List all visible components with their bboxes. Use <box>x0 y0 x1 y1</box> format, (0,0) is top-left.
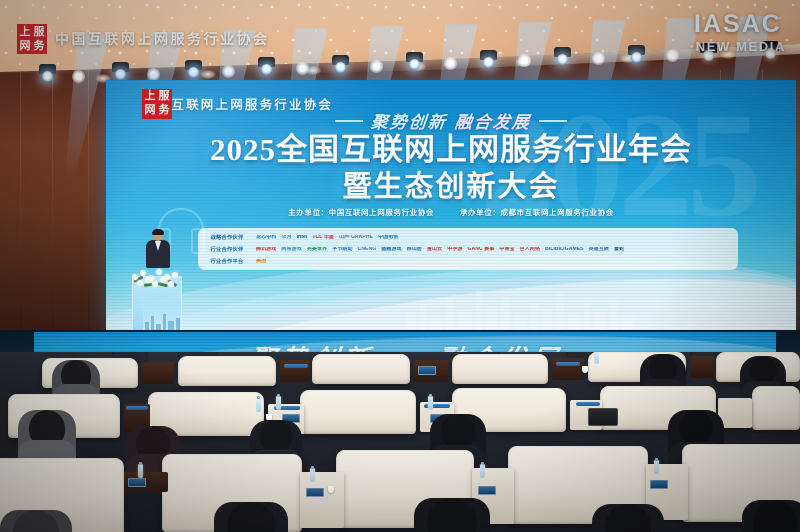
title-line-1: 2025全国互联网上网服务行业年会 <box>106 132 796 169</box>
name-card <box>650 480 668 489</box>
sponsor-logo: BILIBILIGAMES <box>545 247 584 252</box>
watermark-iasac-title: IASAC <box>690 12 786 37</box>
slogan-right-text: 融合发展 <box>454 108 533 133</box>
seat-accent-strip <box>576 402 600 406</box>
light-glow <box>444 57 457 70</box>
water-bottle <box>480 464 485 478</box>
sponsor-logo: 华为 <box>281 235 291 240</box>
led-stage-screen: 2025 <box>106 80 796 330</box>
light-glow <box>518 54 531 67</box>
sponsor-logo: 雷蛇 <box>614 247 624 252</box>
sponsor-logo: 金山云 <box>427 247 442 252</box>
sponsor-logo: 中国电信 <box>378 235 398 240</box>
water-bottle <box>594 352 599 364</box>
sponsor-logo-group: 龙芯中科 华为 intel TCL 华星 山声·GRAPHE 中国电信 <box>256 235 398 240</box>
audience-person <box>0 510 72 532</box>
tea-cup <box>582 366 588 373</box>
audience-person <box>742 500 800 532</box>
lectern-graphic <box>143 306 181 332</box>
slogan-left-text: 聚势创新 <box>370 108 449 133</box>
watermark-association: 上 服 网 务 中国互联网上网服务行业协会 <box>17 24 270 54</box>
watermark-iasac: IASAC ·NEW MEDIA <box>690 12 786 54</box>
audience-seat <box>752 386 800 430</box>
conference-photo: 2025 <box>0 0 800 532</box>
sponsor-logo: CNENG <box>358 247 377 252</box>
sponsor-logo: TCL 华星 <box>312 235 334 240</box>
light-glow <box>370 60 383 73</box>
water-bottle <box>256 398 261 412</box>
sponsor-logo: 中青宝 <box>499 247 514 252</box>
water-bottle <box>654 460 659 474</box>
water-bottle <box>276 396 281 410</box>
sponsor-logo: 中手游 <box>447 247 462 252</box>
sponsor-logo: 字节跳动 <box>332 247 352 252</box>
sponsor-row: 行业合作平台 美团 <box>204 256 730 266</box>
watermark-iasac-subtitle: ·NEW MEDIA <box>690 39 786 54</box>
sponsor-logo: 盛趣游戏 <box>381 247 401 252</box>
tea-cup <box>328 486 334 493</box>
sponsor-logo: 英雄互娱 <box>589 247 609 252</box>
water-bottle <box>310 468 315 482</box>
sponsor-logo: 山声·GRAPHE <box>339 235 373 240</box>
sponsor-logo: 西山居 <box>407 247 422 252</box>
co-organizer: 承办单位：成都市互联网上网服务行业协会 <box>460 207 614 218</box>
moving-head-light <box>332 55 349 74</box>
audience-person <box>414 498 490 532</box>
audience-person <box>592 504 664 532</box>
moving-head-light <box>185 60 202 79</box>
moving-head-light <box>554 47 571 66</box>
speaker-person <box>146 230 170 266</box>
sponsor-logo: GANC 赛事 <box>468 247 495 252</box>
sponsor-row-label: 行业合作伙伴 <box>204 246 250 253</box>
seat-accent-strip <box>556 362 580 366</box>
association-seal-icon: 上 服 网 务 <box>17 24 47 54</box>
seat-accent-strip <box>126 406 148 410</box>
title-line-2: 暨生态创新大会 <box>106 169 796 205</box>
laptop <box>588 408 618 426</box>
host-organizer: 主办单位：中国互联网上网服务行业协会 <box>288 207 434 218</box>
ceiling-downlight <box>200 70 216 79</box>
water-bottle <box>428 396 433 410</box>
moving-head-light <box>628 45 645 64</box>
audience-person <box>214 502 288 532</box>
audience-seat <box>312 354 410 384</box>
light-glow <box>666 49 679 62</box>
sponsor-logo-group: 腾讯游戏 网易游戏 完美世界 字节跳动 CNENG 盛趣游戏 西山居 金山云 中… <box>256 247 624 252</box>
moving-head-light <box>112 62 129 81</box>
sponsor-logo-group: 美团 <box>256 259 266 264</box>
audience-area <box>0 352 800 532</box>
sponsor-logo: 腾讯游戏 <box>256 247 276 252</box>
name-card <box>478 486 496 495</box>
sponsor-logo: 美团 <box>256 259 266 264</box>
side-table <box>300 472 344 528</box>
audience-seat <box>300 390 416 434</box>
sponsor-row-label: 行业合作平台 <box>204 258 250 265</box>
sponsor-row-label: 战略合作伙伴 <box>204 234 250 241</box>
wall-seam <box>88 70 89 350</box>
sponsor-logo: 完美世界 <box>307 247 327 252</box>
sponsor-logo: 网易游戏 <box>281 247 301 252</box>
watermark-association-text: 中国互联网上网服务行业协会 <box>55 29 270 49</box>
event-title: 2025全国互联网上网服务行业年会 暨生态创新大会 <box>106 132 796 205</box>
event-slogan: 聚势创新 融合发展 <box>106 108 796 133</box>
audience-seat <box>452 354 548 384</box>
seat-accent-strip <box>284 364 308 368</box>
seal-char: 网 <box>19 40 32 53</box>
seal-char: 服 <box>158 90 171 103</box>
light-glow <box>592 52 605 65</box>
wall-seam <box>52 70 53 350</box>
moving-head-light <box>39 64 56 83</box>
light-glow <box>296 62 309 75</box>
audience-seat <box>178 356 276 386</box>
moving-head-light <box>480 50 497 69</box>
sponsor-logo: intel <box>297 235 308 240</box>
sponsor-row: 战略合作伙伴 龙芯中科 华为 intel TCL 华星 山声·GRAPHE 中国… <box>204 232 730 242</box>
light-glow <box>222 65 235 78</box>
sponsor-panel: 战略合作伙伴 龙芯中科 华为 intel TCL 华星 山声·GRAPHE 中国… <box>198 228 738 270</box>
organizer-line: 主办单位：中国互联网上网服务行业协会 承办单位：成都市互联网上网服务行业协会 <box>106 207 796 218</box>
sponsor-logo: 龙芯中科 <box>256 235 276 240</box>
seal-char: 服 <box>33 26 46 39</box>
water-bottle <box>138 464 143 478</box>
sponsor-row: 行业合作伙伴 腾讯游戏 网易游戏 完美世界 字节跳动 CNENG 盛趣游戏 西山… <box>204 244 730 254</box>
lectern <box>128 258 186 336</box>
wall-seam <box>20 70 21 350</box>
side-table <box>690 356 714 378</box>
seal-char: 上 <box>19 26 32 39</box>
slogan-dash-right <box>539 120 567 122</box>
city-skyline-graphic <box>406 278 636 330</box>
flower-arrangement <box>124 264 190 294</box>
moving-head-light <box>258 57 275 76</box>
name-card <box>418 366 436 375</box>
seal-char: 务 <box>33 40 46 53</box>
moving-head-light <box>406 52 423 71</box>
slogan-dash-left <box>335 120 363 122</box>
side-table <box>142 362 174 384</box>
light-glow <box>72 70 85 83</box>
name-card <box>306 488 324 497</box>
name-card <box>128 478 146 487</box>
seal-char: 上 <box>144 90 157 103</box>
sponsor-logo: 巨人网络 <box>520 247 540 252</box>
